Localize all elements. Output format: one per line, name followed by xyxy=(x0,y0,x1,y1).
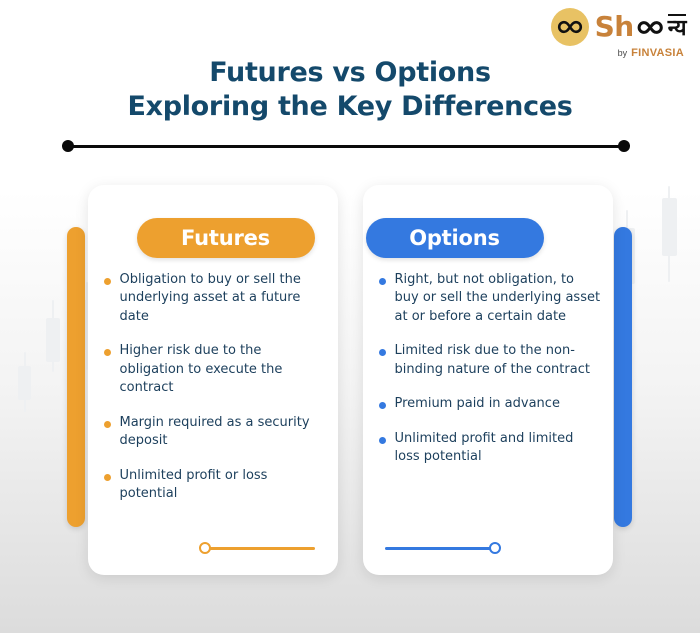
list-item: Right, but not obligation, to buy or sel… xyxy=(379,271,601,326)
futures-bullet-list: Obligation to buy or sell the underlying… xyxy=(104,271,326,520)
bullet-dot-icon xyxy=(104,278,111,285)
logo-by-text: by xyxy=(618,48,628,58)
bullet-dot-icon xyxy=(104,349,111,356)
options-bullet-list: Right, but not obligation, to buy or sel… xyxy=(379,271,601,483)
logo-wordmark: Sh न्य xyxy=(595,13,686,41)
infinity-icon xyxy=(551,8,589,46)
list-item-text: Unlimited profit and limited loss potent… xyxy=(395,430,601,467)
bullet-dot-icon xyxy=(379,349,386,356)
list-item: Margin required as a security deposit xyxy=(104,414,326,451)
futures-slider-thumb[interactable] xyxy=(199,542,211,554)
options-slider-thumb[interactable] xyxy=(489,542,501,554)
futures-heading-label: Futures xyxy=(181,226,270,250)
options-heading-label: Options xyxy=(409,226,500,250)
logo-subline: by FINVASIA xyxy=(618,47,684,59)
bullet-dot-icon xyxy=(379,402,386,409)
title-line-2: Exploring the Key Differences xyxy=(0,90,700,124)
divider xyxy=(62,140,630,152)
options-heading-pill: Options xyxy=(366,218,544,258)
logo-word-prefix: Sh xyxy=(595,13,634,41)
page-title: Futures vs Options Exploring the Key Dif… xyxy=(0,56,700,124)
options-card: Options Right, but not obligation, to bu… xyxy=(363,185,613,575)
list-item-text: Unlimited profit or loss potential xyxy=(120,467,326,504)
title-line-1: Futures vs Options xyxy=(0,56,700,90)
futures-card: Futures Obligation to buy or sell the un… xyxy=(88,185,338,575)
list-item: Premium paid in advance xyxy=(379,395,601,413)
logo-word-suffix: न्य xyxy=(668,14,686,40)
logo-row: Sh न्य xyxy=(551,8,686,46)
divider-line xyxy=(67,145,625,148)
divider-dot-right-icon xyxy=(618,140,630,152)
list-item-text: Limited risk due to the non-binding natu… xyxy=(395,342,601,379)
list-item: Unlimited profit and limited loss potent… xyxy=(379,430,601,467)
options-slider-track[interactable] xyxy=(385,547,495,550)
list-item-text: Obligation to buy or sell the underlying… xyxy=(120,271,326,326)
bullet-dot-icon xyxy=(379,437,386,444)
brand-logo[interactable]: Sh न्य by FINVASIA xyxy=(551,8,686,59)
options-slider[interactable] xyxy=(363,541,613,555)
list-item-text: Higher risk due to the obligation to exe… xyxy=(120,342,326,397)
list-item: Obligation to buy or sell the underlying… xyxy=(104,271,326,326)
list-item-text: Premium paid in advance xyxy=(395,395,560,413)
list-item-text: Margin required as a security deposit xyxy=(120,414,326,451)
list-item: Unlimited profit or loss potential xyxy=(104,467,326,504)
bullet-dot-icon xyxy=(104,421,111,428)
comparison-cards: Futures Obligation to buy or sell the un… xyxy=(0,185,700,575)
list-item: Limited risk due to the non-binding natu… xyxy=(379,342,601,379)
logo-infinity-glyph xyxy=(636,20,666,35)
bullet-dot-icon xyxy=(104,474,111,481)
logo-parent-brand: FINVASIA xyxy=(631,47,684,59)
futures-heading-pill: Futures xyxy=(137,218,315,258)
bullet-dot-icon xyxy=(379,278,386,285)
infographic-poster: Sh न्य by FINVASIA Futures vs Options Ex… xyxy=(0,0,700,633)
futures-slider-track[interactable] xyxy=(205,547,315,550)
list-item: Higher risk due to the obligation to exe… xyxy=(104,342,326,397)
futures-slider[interactable] xyxy=(88,541,338,555)
list-item-text: Right, but not obligation, to buy or sel… xyxy=(395,271,601,326)
